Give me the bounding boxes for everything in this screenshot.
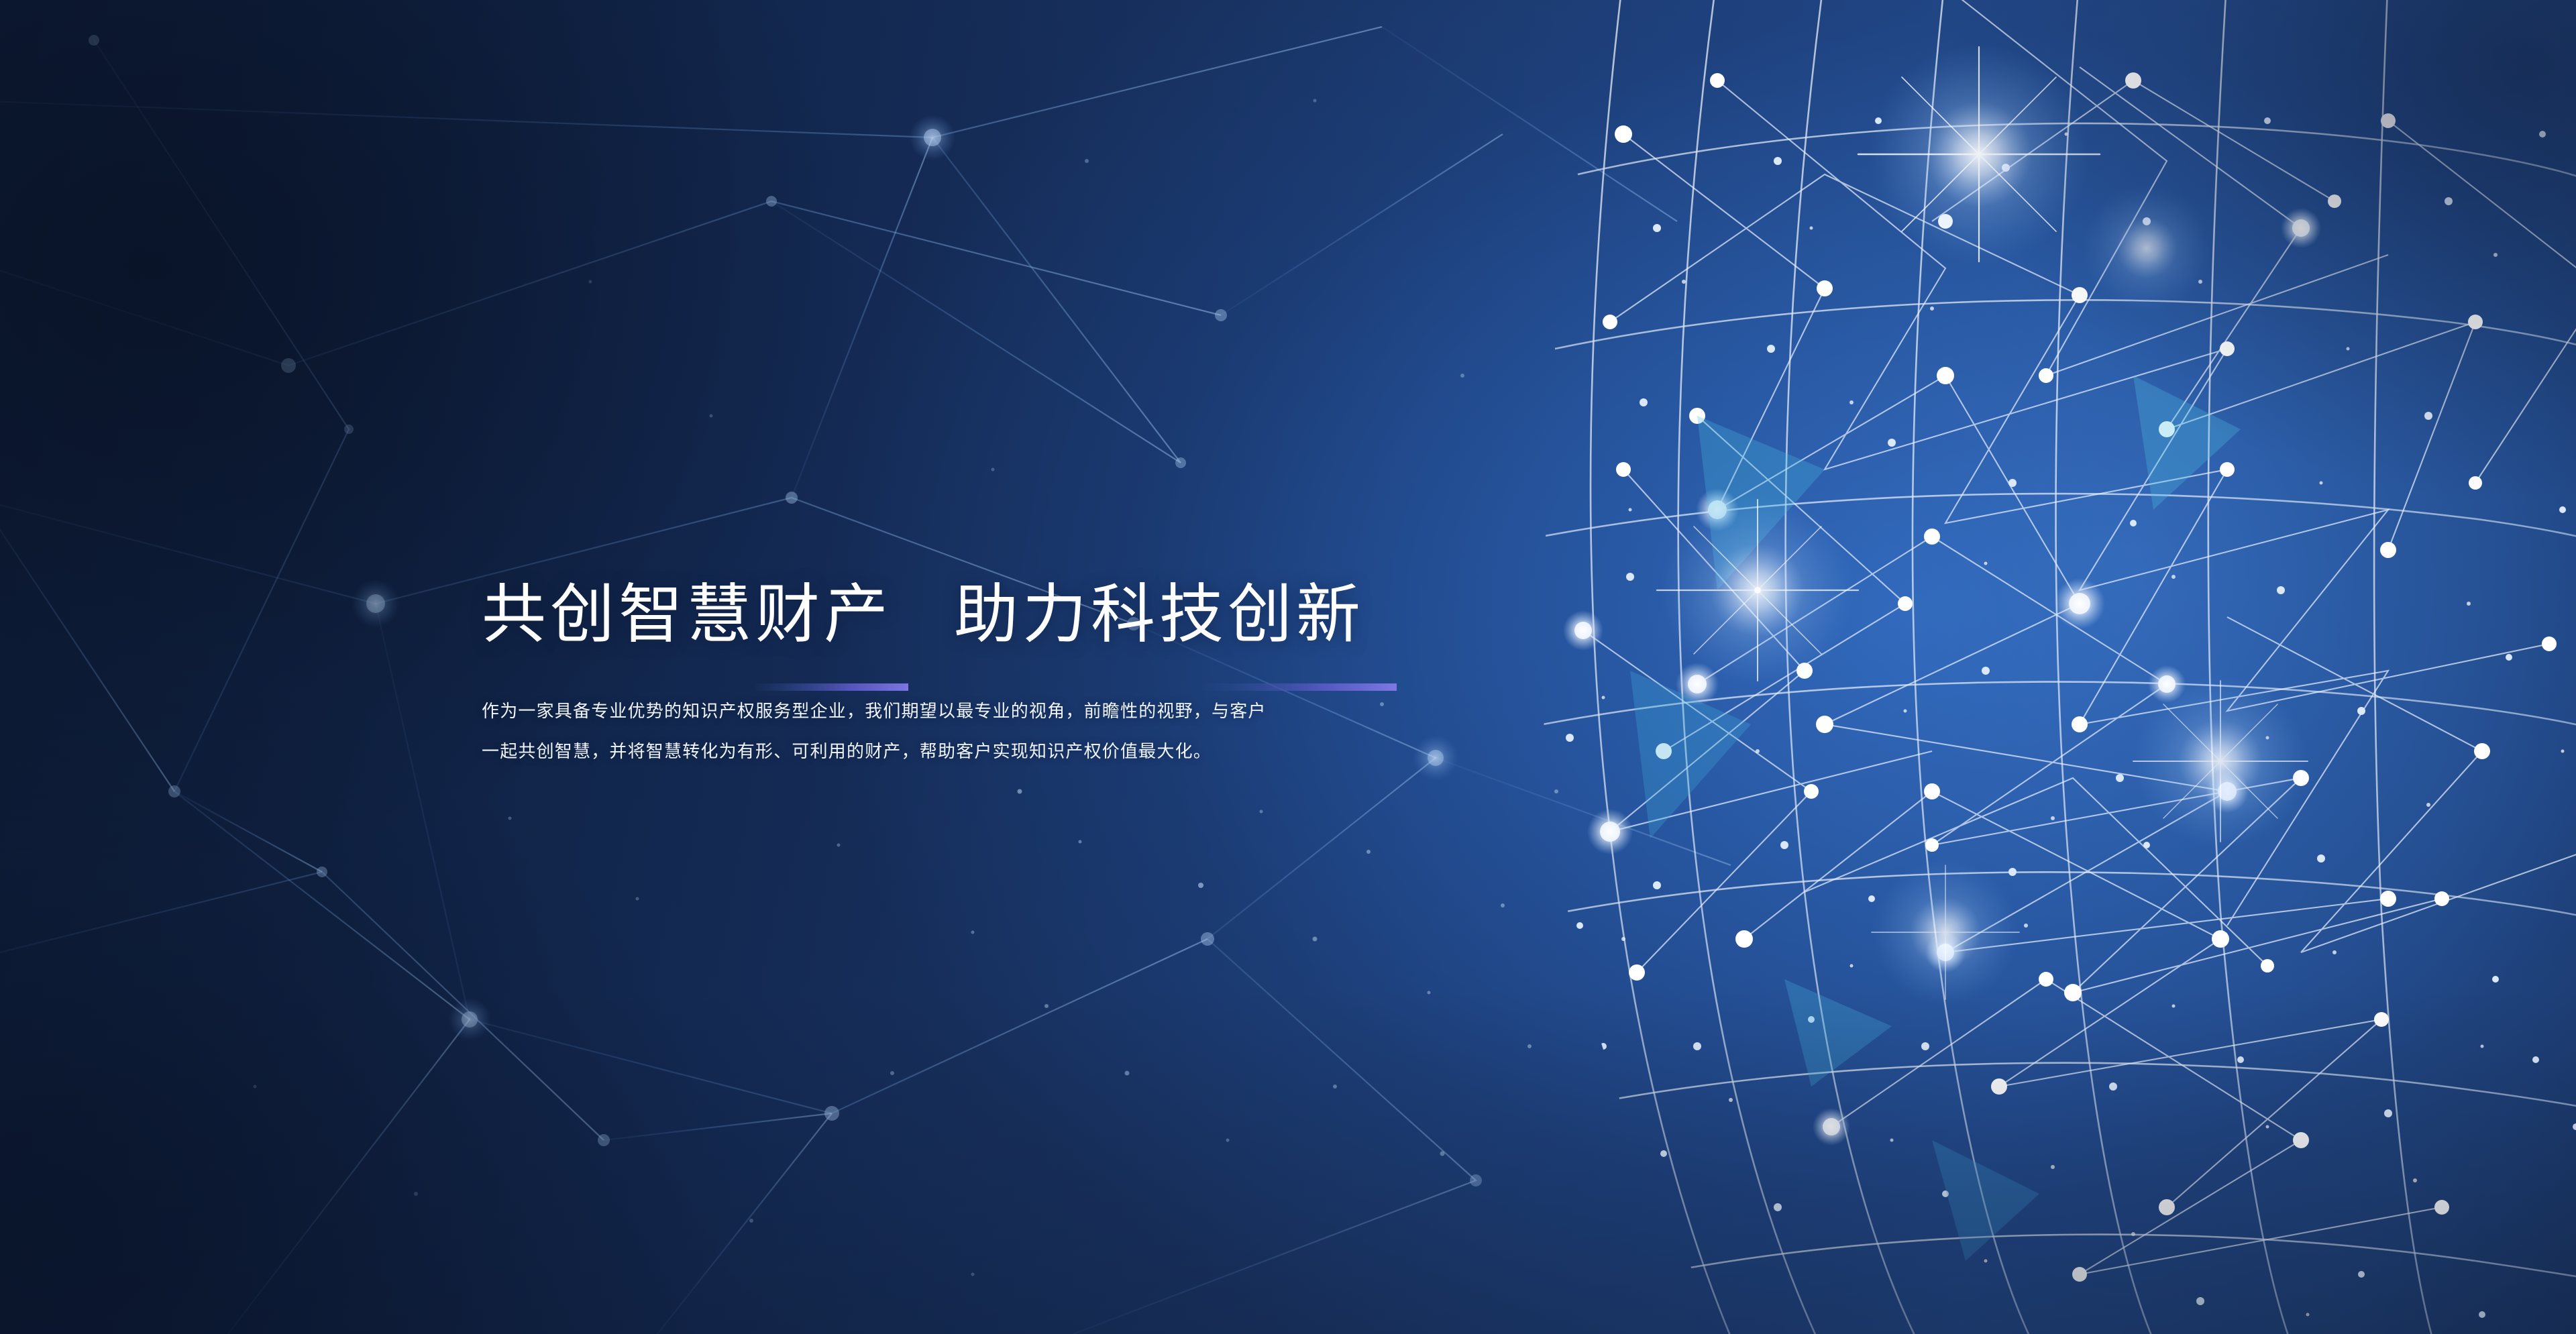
accent-underline-1 xyxy=(755,683,908,691)
hero-banner: 共创智慧财产助力科技创新 xyxy=(0,0,2576,1334)
headline-phrase-1: 共创智慧财产 xyxy=(482,579,892,651)
hero-content: 共创智慧财产助力科技创新 xyxy=(482,540,1434,789)
headline-phrase-2: 助力科技创新 xyxy=(954,579,1364,651)
accent-underline-2 xyxy=(1202,683,1397,691)
hero-description: 作为一家具备专业优势的知识产权服务型企业，我们期望以最专业的视角，前瞻性的视野，… xyxy=(482,691,1270,771)
page-title: 共创智慧财产助力科技创新 xyxy=(482,583,1434,647)
